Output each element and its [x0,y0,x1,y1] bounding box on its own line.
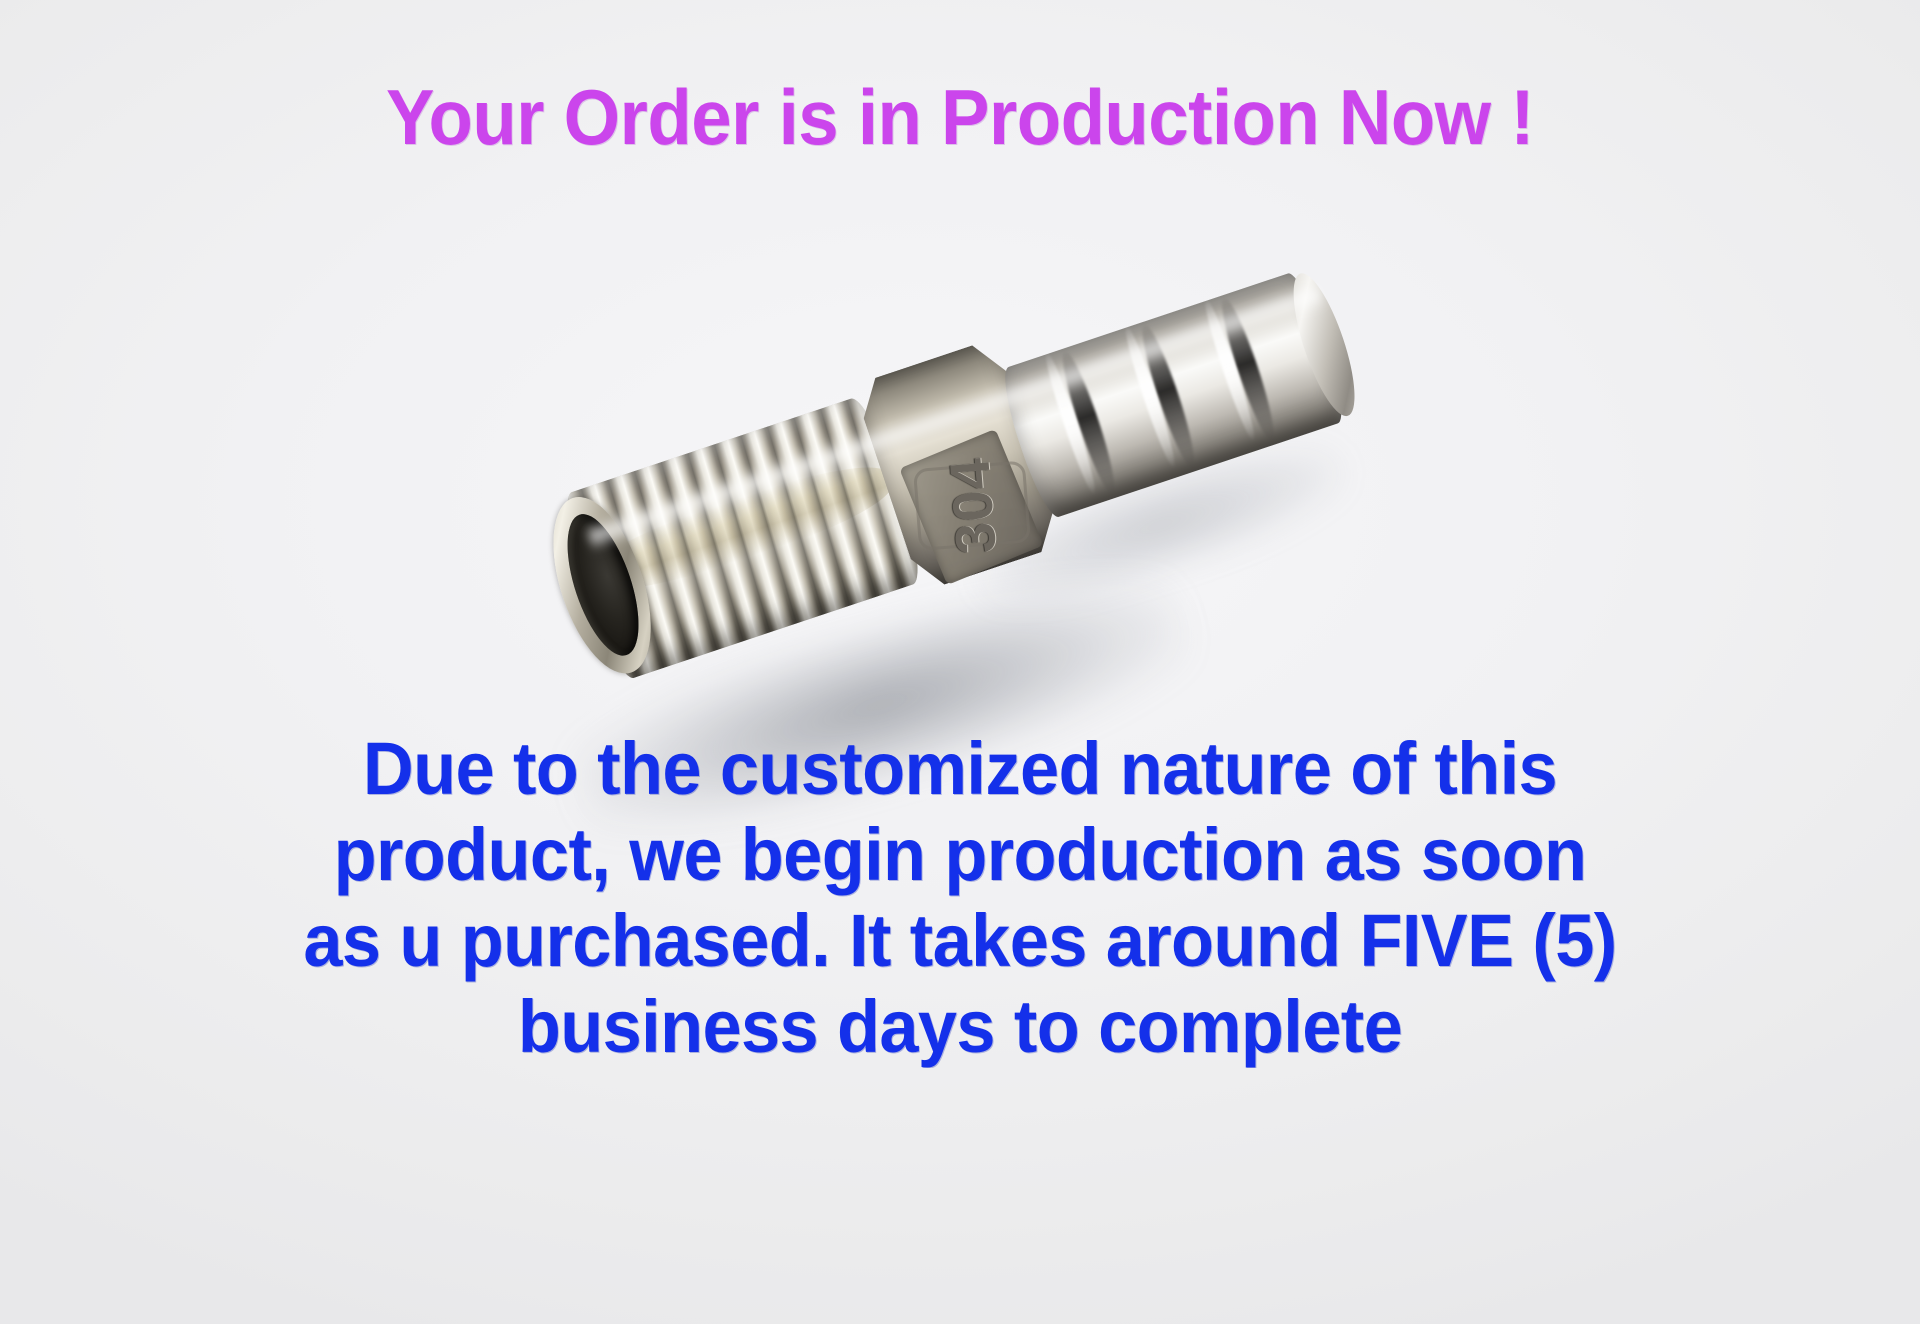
page-title: Your Order is in Production Now ! [67,78,1853,156]
production-notice: Due to the customized nature of this pro… [48,726,1872,1070]
notice-line: product, we begin production as soon [48,812,1872,898]
notice-line: business days to complete [48,984,1872,1070]
notice-line: as u purchased. It takes around FIVE (5) [48,898,1872,984]
notice-line: Due to the customized nature of this [48,726,1872,812]
material-grade-stamp: 304 [913,460,1031,551]
promo-banner: Your Order is in Production Now ! 304 Du… [0,0,1920,1324]
